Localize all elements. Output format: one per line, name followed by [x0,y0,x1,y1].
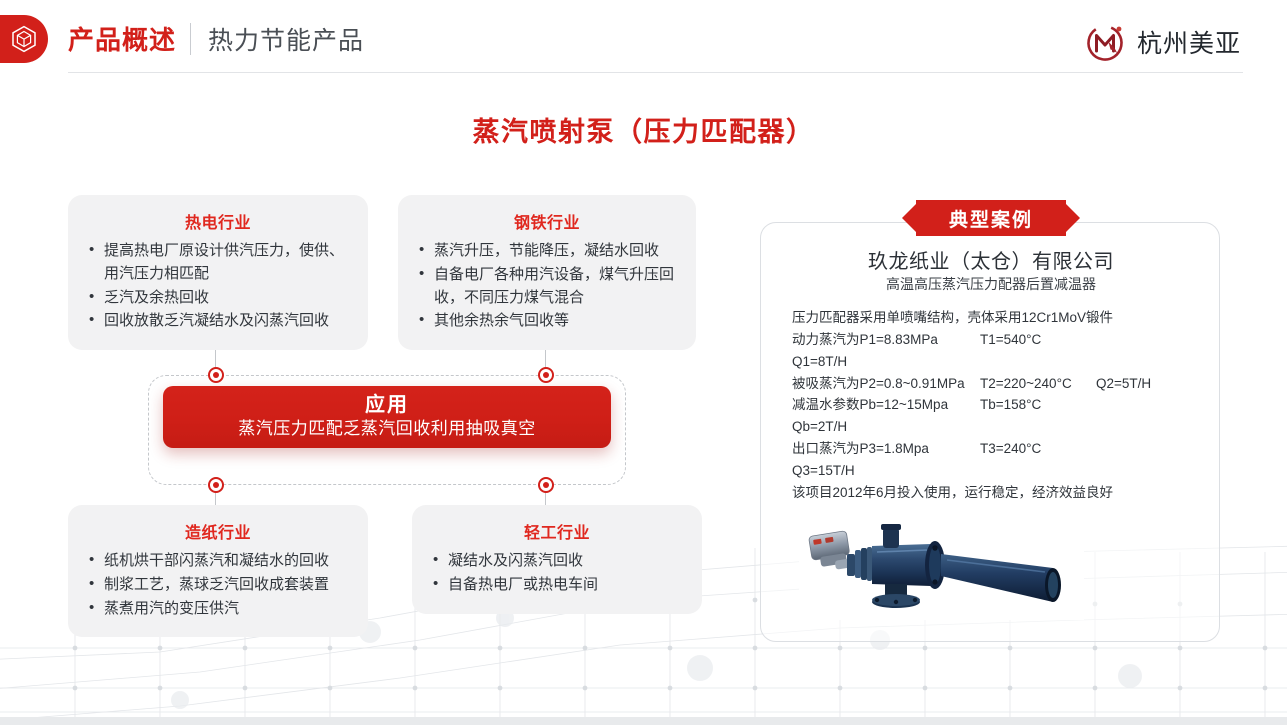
industry-card-thermal-power[interactable]: 热电行业 提高热电厂原设计供汽压力，使供、用汽压力相匹配 乏汽及余热回收 回收放… [68,195,368,350]
industry-card-list: 提高热电厂原设计供汽压力，使供、用汽压力相匹配 乏汽及余热回收 回收放散乏汽凝结… [84,240,352,333]
case-spec-list: 压力匹配器采用单喷嘴结构，壳体采用12Cr1MoV锻件 动力蒸汽为P1=8.83… [792,307,1204,504]
page-subtitle: 热力节能产品 [208,21,364,57]
industry-card-steel[interactable]: 钢铁行业 蒸汽升压，节能降压，凝结水回收 自备电厂各种用汽设备，煤气升压回收，不… [398,195,696,350]
industry-card-light-industry[interactable]: 轻工行业 凝结水及闪蒸汽回收 自备热电厂或热电车间 [412,505,702,614]
spec-row: Q3=15T/H [792,460,1204,482]
cube-hexagon-icon [11,25,37,53]
industry-card-title: 热电行业 [84,209,352,233]
list-item: 自备电厂各种用汽设备，煤气升压回收，不同压力煤气混合 [414,264,680,310]
list-item: 蒸汽升压，节能降压，凝结水回收 [414,240,680,263]
spec-col-c: Q2=5T/H [1096,373,1151,395]
list-item: 蒸煮用汽的变压供汽 [84,598,352,621]
spec-row: 压力匹配器采用单喷嘴结构，壳体采用12Cr1MoV锻件 [792,307,1204,329]
spec-col-a: 该项目2012年6月投入使用，运行稳定，经济效益良好 [792,482,1122,504]
meiya-m-circle-logo-icon [1084,20,1128,64]
center-box-title: 应用 [365,393,409,418]
spec-col-a: 出口蒸汽为P3=1.8Mpa [792,438,980,460]
spec-row: Qb=2T/H [792,416,1204,438]
spec-row: 减温水参数Pb=12~15Mpa Tb=158°C [792,394,1204,416]
spec-col-a: 减温水参数Pb=12~15Mpa [792,394,980,416]
list-item: 回收放散乏汽凝结水及闪蒸汽回收 [84,310,352,333]
industry-card-title: 轻工行业 [428,519,686,543]
spec-row: Q1=8T/H [792,351,1204,373]
brand-logo: 杭州美亚 [1084,20,1241,64]
slide-main-title: 蒸汽喷射泵（压力匹配器） [0,110,1287,149]
header-badge [0,15,48,63]
spec-col-b [980,460,1096,482]
list-item: 其他余热余气回收等 [414,310,680,333]
application-diagram: 热电行业 提高热电厂原设计供汽压力，使供、用汽压力相匹配 乏汽及余热回收 回收放… [60,190,710,660]
spec-col-a: 压力匹配器采用单喷嘴结构，壳体采用12Cr1MoV锻件 [792,307,1062,329]
spec-col-b [980,351,1090,373]
industry-card-list: 蒸汽升压，节能降压，凝结水回收 自备电厂各种用汽设备，煤气升压回收，不同压力煤气… [414,240,680,333]
list-item: 制浆工艺，蒸球乏汽回收成套装置 [84,574,352,597]
case-company-name: 玖龙纸业（太仓）有限公司 [761,245,1221,274]
spec-col-a: 被吸蒸汽为P2=0.8~0.91MPa [792,373,980,395]
case-product-photo [799,510,1084,620]
node-dot-bottom-right [538,477,554,493]
list-item: 自备热电厂或热电车间 [428,574,686,597]
list-item: 乏汽及余热回收 [84,287,352,310]
header-rule [68,72,1243,73]
industry-card-papermaking[interactable]: 造纸行业 纸机烘干部闪蒸汽和凝结水的回收 制浆工艺，蒸球乏汽回收成套装置 蒸煮用… [68,505,368,637]
page-header: 产品概述 热力节能产品 杭州美亚 [0,0,1287,82]
node-dot-bottom-left [208,477,224,493]
node-dot-top-left [208,367,224,383]
node-dot-top-right [538,367,554,383]
center-box-subtitle: 蒸汽压力匹配乏蒸汽回收利用抽吸真空 [238,418,536,440]
spec-row: 动力蒸汽为P1=8.83MPa T1=540°C [792,329,1204,351]
bottom-bar [0,717,1287,725]
spec-col-b: T2=220~240°C [980,373,1096,395]
industry-card-list: 纸机烘干部闪蒸汽和凝结水的回收 制浆工艺，蒸球乏汽回收成套装置 蒸煮用汽的变压供… [84,550,352,620]
ribbon-label: 典型案例 [949,205,1033,232]
spec-col-a: Q1=8T/H [792,351,980,373]
case-subtitle: 高温高压蒸汽压力配器后置减温器 [761,274,1221,294]
list-item: 凝结水及闪蒸汽回收 [428,550,686,573]
spec-row: 被吸蒸汽为P2=0.8~0.91MPa T2=220~240°C Q2=5T/H [792,373,1204,395]
industry-card-title: 造纸行业 [84,519,352,543]
steam-ejector-pump-image [799,510,1084,620]
spec-row: 该项目2012年6月投入使用，运行稳定，经济效益良好 [792,482,1204,504]
spec-col-b: Tb=158°C [980,394,1096,416]
industry-card-list: 凝结水及闪蒸汽回收 自备热电厂或热电车间 [428,550,686,597]
spec-col-a: Qb=2T/H [792,416,980,438]
brand-name: 杭州美亚 [1137,24,1241,60]
spec-col-b: T3=240°C [980,438,1096,460]
header-divider [190,23,191,55]
spec-col-a: Q3=15T/H [792,460,980,482]
list-item: 提高热电厂原设计供汽压力，使供、用汽压力相匹配 [84,240,352,286]
spec-col-b [1062,307,1162,329]
typical-case-ribbon: 典型案例 [902,198,1080,238]
page-title: 产品概述 [68,20,176,57]
spec-col-b: T1=540°C [980,329,1090,351]
industry-card-title: 钢铁行业 [414,209,680,233]
spec-col-a: 动力蒸汽为P1=8.83MPa [792,329,980,351]
application-center-box[interactable]: 应用 蒸汽压力匹配乏蒸汽回收利用抽吸真空 [163,386,611,448]
spec-row: 出口蒸汽为P3=1.8Mpa T3=240°C [792,438,1204,460]
spec-col-b [980,416,1096,438]
list-item: 纸机烘干部闪蒸汽和凝结水的回收 [84,550,352,573]
typical-case-panel: 玖龙纸业（太仓）有限公司 高温高压蒸汽压力配器后置减温器 压力匹配器采用单喷嘴结… [760,222,1220,642]
